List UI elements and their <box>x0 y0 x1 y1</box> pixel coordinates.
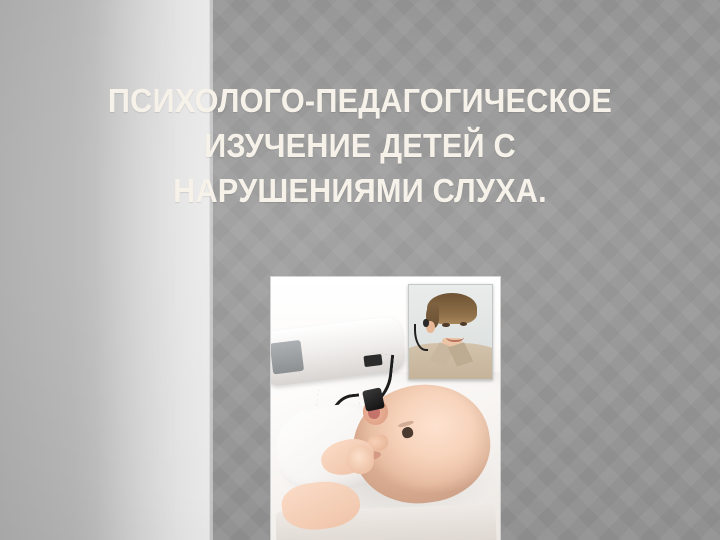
infant-hearing-screening-photo <box>271 277 500 540</box>
boy-eye-left <box>442 323 449 327</box>
title-line-3: НАРУШЕНИЯМИ СЛУХА. <box>42 168 678 213</box>
page-title: ПСИХОЛОГО-ПЕДАГОГИЧЕСКОЕ ИЗУЧЕНИЕ ДЕТЕЙ … <box>0 78 720 213</box>
boy-with-hearing-aid-photo <box>408 284 493 380</box>
device-screen <box>271 340 304 374</box>
boy-smile <box>446 332 464 342</box>
boy-eye-right <box>460 322 467 326</box>
title-line-1: ПСИХОЛОГО-ПЕДАГОГИЧЕСКОЕ <box>42 78 678 123</box>
presentation-title-slide: ПСИХОЛОГО-ПЕДАГОГИЧЕСКОЕ ИЗУЧЕНИЕ ДЕТЕЙ … <box>0 0 720 540</box>
title-line-2: ИЗУЧЕНИЕ ДЕТЕЙ С <box>42 123 678 168</box>
